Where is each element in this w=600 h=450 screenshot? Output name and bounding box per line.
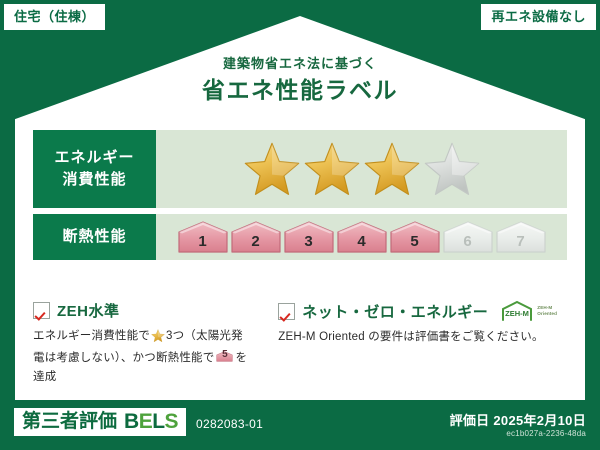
row-energy-performance: エネルギー 消費性能: [33, 130, 567, 208]
star-rating: [156, 130, 567, 208]
star-empty-icon: [423, 141, 481, 196]
energy-label-card: 住宅（住棟） 再エネ設備なし 建築物省エネ法に基づく 省エネ性能ラベル エネルギ…: [0, 0, 600, 450]
check-head-netzero: ネット・ゼロ・エネルギー ZEH-M ZEH-M Oriented: [278, 300, 557, 322]
zehm-sub-line1: ZEH-M: [537, 305, 552, 310]
check-desc-zeh-part1: エネルギー消費性能で: [33, 330, 150, 342]
check-block-zeh: ZEH水準 エネルギー消費性能で 3つ（太陽光発電は考慮しない）、かつ断熱性能で…: [33, 300, 260, 387]
star-filled-icon: [303, 141, 361, 196]
checkbox-netzero-icon[interactable]: [278, 303, 295, 320]
ratings-section: エネルギー 消費性能: [33, 130, 567, 266]
insulation-step-empty: 7: [495, 220, 547, 254]
check-title-zeh: ZEH水準: [57, 300, 120, 321]
row-label-energy: エネルギー 消費性能: [33, 130, 156, 208]
inline-level-badge: 5: [216, 349, 233, 364]
checks-section: ZEH水準 エネルギー消費性能で 3つ（太陽光発電は考慮しない）、かつ断熱性能で…: [33, 300, 567, 387]
check-block-netzero: ネット・ゼロ・エネルギー ZEH-M ZEH-M Oriented ZEH-M …: [260, 300, 567, 387]
evaluation-date: 評価日 2025年2月10日: [450, 410, 586, 429]
bels-letter-l: L: [152, 410, 164, 433]
row-label-energy-line2: 消費性能: [62, 169, 126, 191]
bels-number: 0282083-01: [196, 417, 263, 431]
checkbox-zeh-icon[interactable]: [33, 302, 50, 319]
star-filled-icon: [363, 141, 421, 196]
bels-logo-mark: BELS: [124, 411, 178, 432]
insulation-step-filled: 4: [336, 220, 388, 254]
row-label-insulation-line1: 断熱性能: [62, 226, 126, 248]
badge-renewable-energy: 再エネ設備なし: [481, 4, 596, 30]
document-hash: ec1b027a-2236-48da: [506, 429, 586, 438]
star-filled-icon: [243, 141, 301, 196]
row-label-insulation: 断熱性能: [33, 214, 156, 260]
row-insulation-performance: 断熱性能 1 2 3: [33, 214, 567, 260]
bels-letter-e: E: [139, 410, 153, 433]
insulation-step-label: 4: [336, 233, 388, 250]
page-title: 省エネ性能ラベル: [0, 77, 600, 105]
insulation-step-label: 6: [442, 233, 494, 250]
bels-logo-jp: 第三者評価: [22, 412, 117, 431]
check-head-zeh: ZEH水準: [33, 300, 250, 321]
insulation-step-filled: 1: [177, 220, 229, 254]
insulation-step-label: 3: [283, 233, 335, 250]
bels-letter-b: B: [124, 410, 139, 433]
row-label-energy-line1: エネルギー: [54, 147, 134, 169]
check-desc-netzero: ZEH-M Oriented の要件は評価書をご覧ください。: [278, 328, 557, 347]
zehm-logo-sub: ZEH-M Oriented: [537, 305, 557, 316]
bels-logo: 第三者評価 BELS: [14, 408, 186, 436]
insulation-step-filled: 5: [389, 220, 441, 254]
insulation-step-empty: 6: [442, 220, 494, 254]
zehm-sub-line2: Oriented: [537, 311, 557, 316]
zehm-house-icon: ZEH-M: [499, 300, 535, 322]
badge-building-type: 住宅（住棟）: [4, 4, 105, 30]
insulation-step-label: 2: [230, 233, 282, 250]
insulation-step-label: 7: [495, 233, 547, 250]
zehm-logo-icon: ZEH-M ZEH-M Oriented: [499, 300, 557, 322]
title-block: 建築物省エネ法に基づく 省エネ性能ラベル: [0, 56, 600, 104]
insulation-step-filled: 2: [230, 220, 282, 254]
inline-star-icon: [151, 329, 165, 349]
check-title-netzero: ネット・ゼロ・エネルギー: [302, 301, 488, 322]
insulation-step-label: 5: [389, 233, 441, 250]
check-desc-zeh: エネルギー消費性能で 3つ（太陽光発電は考慮しない）、かつ断熱性能で 5を達成: [33, 327, 250, 387]
insulation-step-filled: 3: [283, 220, 335, 254]
zehm-logo-text: ZEH-M: [505, 309, 529, 318]
inline-level-value: 5: [216, 347, 233, 364]
footer: 第三者評価 BELS 0282083-01 評価日 2025年2月10日 ec1…: [0, 400, 600, 450]
insulation-step-label: 1: [177, 233, 229, 250]
insulation-scale: 1 2 3 4: [156, 214, 567, 260]
bels-letter-s: S: [165, 410, 179, 433]
title-subtitle: 建築物省エネ法に基づく: [0, 56, 600, 72]
